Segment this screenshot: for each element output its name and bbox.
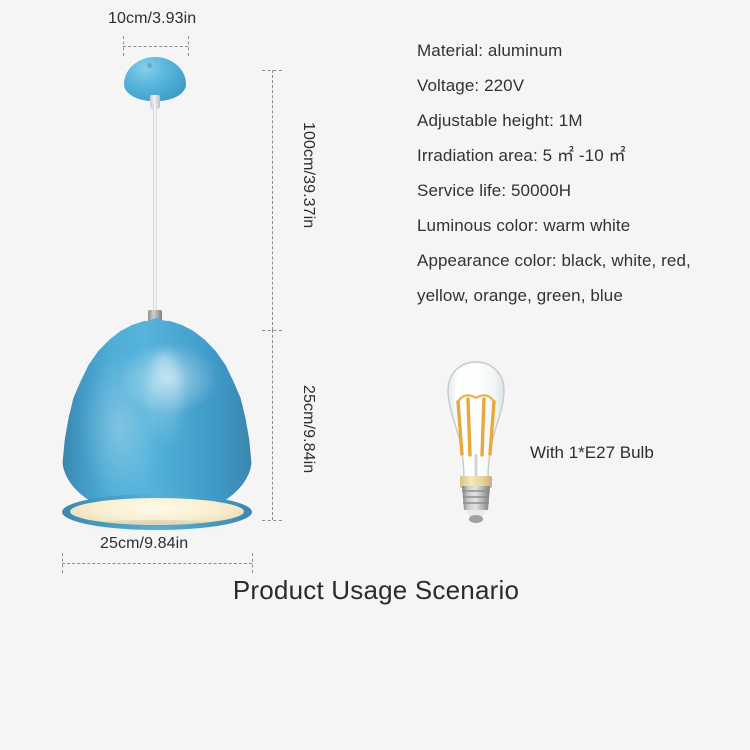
dimension-line-canopy-width — [123, 46, 188, 47]
spec-line-material: Material: aluminum — [417, 33, 737, 68]
bulb-filament — [482, 399, 484, 455]
dimension-line-shade-height — [272, 330, 273, 520]
dimension-tick-width-left — [62, 553, 63, 573]
dimension-tick-width-right — [252, 553, 253, 573]
product-spec-image: 10cm/3.93in 100cm/39.37in 25cm/9.84in 25… — [0, 0, 750, 750]
usage-scenario-text: Product Usage Scenario — [231, 575, 519, 605]
dimension-label-cord-drop: 100cm/39.37in — [299, 122, 317, 228]
hanging-cord — [153, 104, 157, 316]
dimension-line-shade-width — [62, 563, 252, 564]
usage-scenario-caption: Product Usage Scenario — [0, 575, 750, 606]
dimension-line-cord-drop — [272, 70, 273, 330]
bulb-contact-tip — [469, 515, 483, 523]
bulb-caption-label: With 1*E27 Bulb — [530, 443, 654, 463]
dimension-tick-canopy-left — [123, 36, 124, 56]
spec-line-adjustable-height: Adjustable height: 1M — [417, 103, 737, 138]
dimension-label-shade-height: 25cm/9.84in — [299, 385, 317, 473]
dimension-label-shade-width: 25cm/9.84in — [100, 535, 188, 553]
lamp-shade-highlight — [148, 352, 182, 444]
bulb-filament — [468, 399, 470, 455]
spec-line-luminous-color: Luminous color: warm white — [417, 208, 737, 243]
bulb-screw-base — [462, 486, 490, 510]
dimension-tick-shade-bottom — [262, 520, 282, 521]
bulb-illustration — [432, 358, 520, 526]
lamp-shade-shadow — [74, 520, 240, 532]
spec-line-voltage: Voltage: 220V — [417, 68, 737, 103]
specification-list: Material: aluminum Voltage: 220V Adjusta… — [417, 33, 737, 313]
spec-line-irradiation-area: Irradiation area: 5 ㎡ -10 ㎡ — [417, 138, 737, 173]
spec-line-appearance-color: Appearance color: black, white, red, — [417, 243, 737, 278]
spec-line-appearance-color-cont: yellow, orange, green, blue — [417, 278, 737, 313]
dimension-tick-cord-top — [262, 70, 282, 71]
dimension-label-canopy-width: 10cm/3.93in — [108, 10, 196, 28]
bulb-svg — [432, 358, 520, 526]
dimension-tick-canopy-right — [188, 36, 189, 56]
canopy-screw — [147, 63, 152, 68]
spec-line-service-life: Service life: 50000H — [417, 173, 737, 208]
